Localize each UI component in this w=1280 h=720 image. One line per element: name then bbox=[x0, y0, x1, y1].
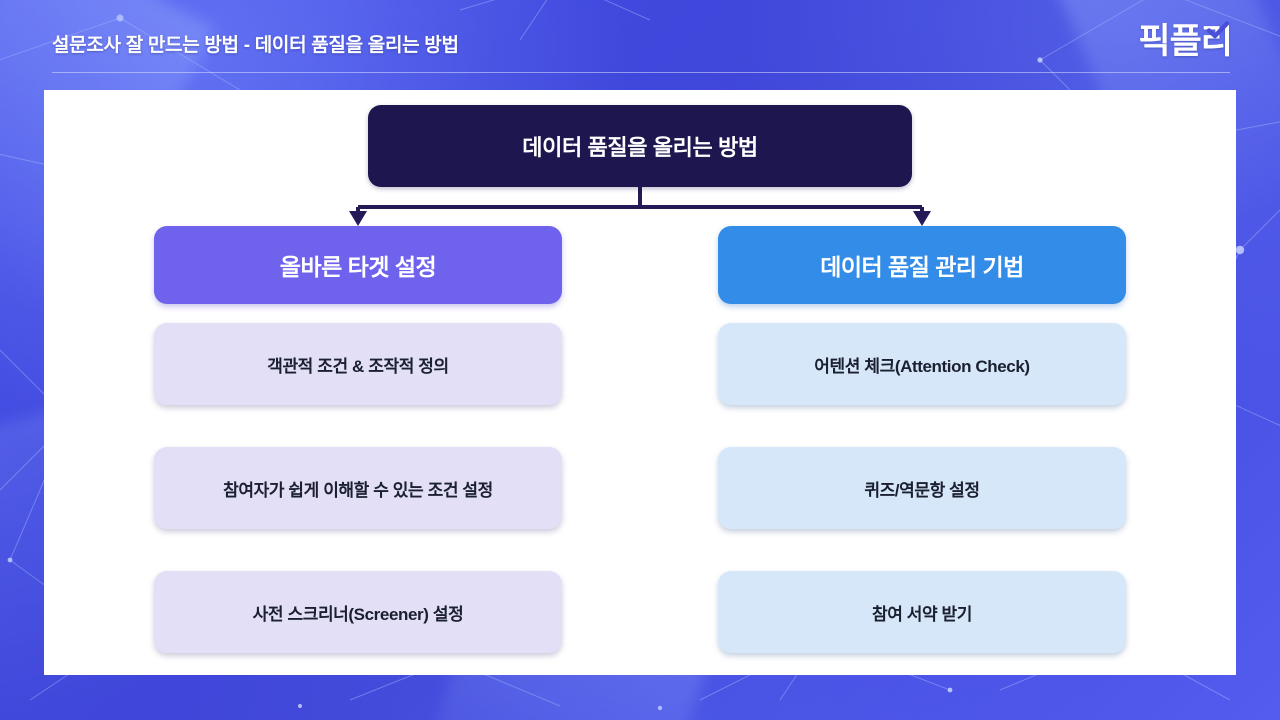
branch-header-right[interactable]: 데이터 품질 관리 기법 bbox=[718, 226, 1126, 304]
brand-logo: 픽플리 bbox=[1138, 19, 1232, 63]
tree-diagram: 데이터 품질을 올리는 방법 올바른 타겟 설정 객관적 조건 & 조작적 정의… bbox=[44, 90, 1236, 675]
leaf-node-right-1[interactable]: 어텐션 체크(Attention Check) bbox=[718, 323, 1126, 405]
page-title: 설문조사 잘 만드는 방법 - 데이터 품질을 올리는 방법 bbox=[52, 30, 459, 57]
slide: 설문조사 잘 만드는 방법 - 데이터 품질을 올리는 방법 픽플리 bbox=[0, 0, 1280, 720]
slide-header: 설문조사 잘 만드는 방법 - 데이터 품질을 올리는 방법 bbox=[0, 0, 1280, 78]
root-node-label: 데이터 품질을 올리는 방법 bbox=[522, 130, 757, 162]
branch-header-left-label: 올바른 타겟 설정 bbox=[280, 248, 436, 282]
branch-header-right-label: 데이터 품질 관리 기법 bbox=[820, 248, 1024, 282]
root-node[interactable]: 데이터 품질을 올리는 방법 bbox=[368, 105, 912, 187]
leaf-node-left-1[interactable]: 객관적 조건 & 조작적 정의 bbox=[154, 323, 562, 405]
leaf-node-left-3[interactable]: 사전 스크리너(Screener) 설정 bbox=[154, 571, 562, 653]
leaf-node-right-3[interactable]: 참여 서약 받기 bbox=[718, 571, 1126, 653]
leaf-node-left-3-label: 사전 스크리너(Screener) 설정 bbox=[253, 600, 464, 625]
arrowhead-left bbox=[349, 211, 367, 226]
leaf-node-right-2[interactable]: 퀴즈/역문항 설정 bbox=[718, 447, 1126, 529]
leaf-node-right-3-label: 참여 서약 받기 bbox=[872, 600, 972, 625]
header-divider bbox=[52, 72, 1230, 73]
leaf-node-left-2-label: 참여자가 쉽게 이해할 수 있는 조건 설정 bbox=[223, 476, 493, 501]
branch-header-left[interactable]: 올바른 타겟 설정 bbox=[154, 226, 562, 304]
leaf-node-left-1-label: 객관적 조건 & 조작적 정의 bbox=[267, 352, 449, 377]
leaf-node-right-1-label: 어텐션 체크(Attention Check) bbox=[814, 352, 1029, 377]
check-icon bbox=[1207, 21, 1229, 39]
leaf-node-right-2-label: 퀴즈/역문항 설정 bbox=[864, 476, 979, 501]
content-card: 데이터 품질을 올리는 방법 올바른 타겟 설정 객관적 조건 & 조작적 정의… bbox=[44, 90, 1236, 675]
leaf-node-left-2[interactable]: 참여자가 쉽게 이해할 수 있는 조건 설정 bbox=[154, 447, 562, 529]
arrowhead-right bbox=[913, 211, 931, 226]
